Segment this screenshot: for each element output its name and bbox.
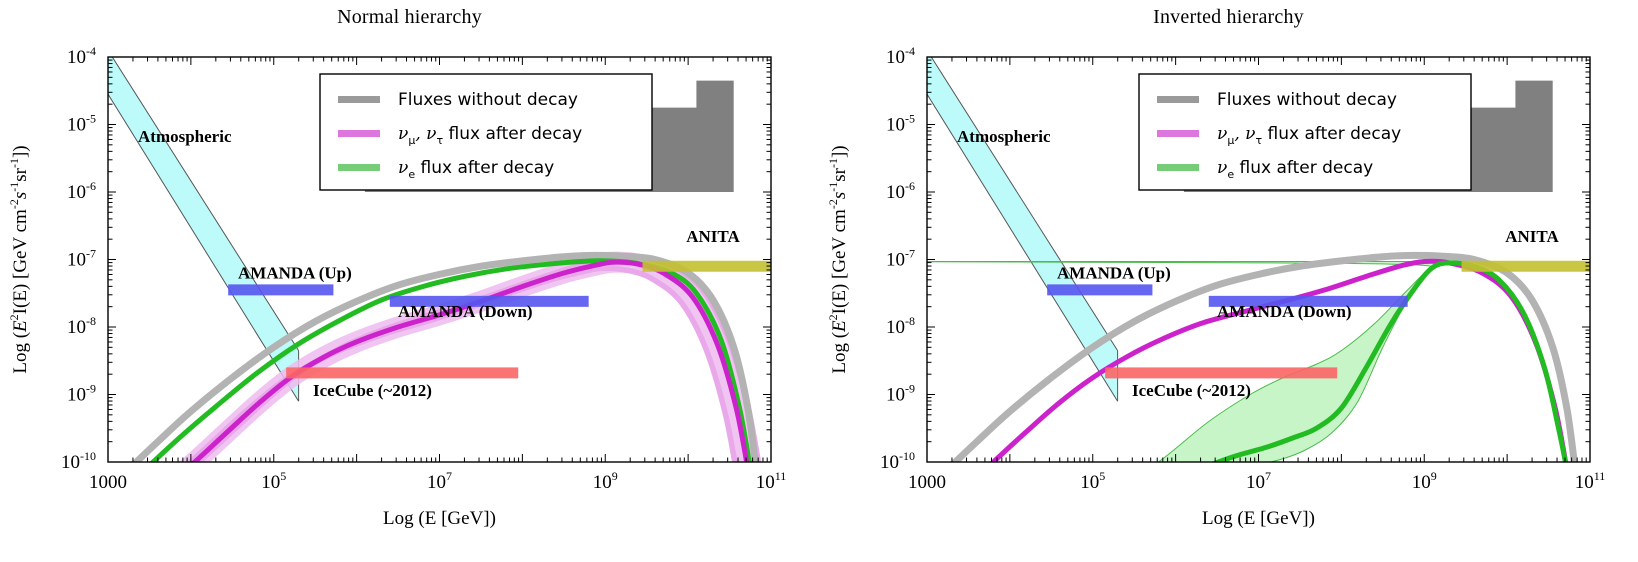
legend-label-0: Fluxes without decay xyxy=(398,90,578,110)
annotation-anita: ANITA xyxy=(1505,227,1559,246)
y-tick-label: 10-10 xyxy=(61,449,96,473)
annotation-amanda-up: AMANDA (Up) xyxy=(238,263,352,282)
legend-swatch-0 xyxy=(338,96,380,103)
annotation-atmospheric: Atmospheric xyxy=(138,127,232,146)
annotation-amanda-down: AMANDA (Down) xyxy=(1217,302,1352,321)
annotation-icecube: IceCube (~2012) xyxy=(313,381,432,400)
y-tick-label: 10-6 xyxy=(886,179,915,203)
annotation-atmospheric: Atmospheric xyxy=(957,127,1051,146)
legend: Fluxes without decayνμ, ντ flux after de… xyxy=(1139,74,1471,190)
x-axis-label: Log (E [GeV]) xyxy=(383,508,496,529)
x-tick-label: 107 xyxy=(427,469,452,493)
annotation-amanda-up: AMANDA (Up) xyxy=(1057,263,1171,282)
x-tick-label: 109 xyxy=(593,469,618,493)
legend-swatch-0 xyxy=(1157,96,1199,103)
y-tick-label: 10-8 xyxy=(886,314,915,338)
y-tick-label: 10-4 xyxy=(886,44,915,68)
bar-icecube-2012 xyxy=(1105,367,1337,378)
x-tick-label: 1011 xyxy=(1575,469,1606,493)
svg-text:Log (E2I(E) [GeV cm-2s-1sr-1]: Log (E2I(E) [GeV cm-2s-1sr-1]) xyxy=(826,145,850,373)
x-axis-label: Log (E [GeV]) xyxy=(1202,508,1315,529)
x-tick-label: 1000 xyxy=(89,472,127,493)
legend: Fluxes without decayνμ, ντ flux after de… xyxy=(320,74,652,190)
y-tick-label: 10-9 xyxy=(886,382,915,406)
y-tick-label: 10-8 xyxy=(67,314,96,338)
bar-anita xyxy=(1462,261,1590,272)
legend-label-0: Fluxes without decay xyxy=(1217,90,1397,110)
legend-swatch-1 xyxy=(338,130,380,137)
legend-label-2: νe flux after decay xyxy=(1217,158,1373,181)
x-tick-label: 1000 xyxy=(908,472,946,493)
x-tick-label: 105 xyxy=(1080,469,1105,493)
panel-normal-hierarchy: Normal hierarchy 1000105107109101110-410… xyxy=(0,0,819,562)
legend-label-1: νμ, ντ flux after decay xyxy=(398,124,582,147)
annotation-amanda-down: AMANDA (Down) xyxy=(398,302,533,321)
y-tick-label: 10-5 xyxy=(886,112,915,136)
legend-label-2: νe flux after decay xyxy=(398,158,554,181)
legend-swatch-1 xyxy=(1157,130,1199,137)
plot-svg-inverted: 1000105107109101110-410-510-610-710-810-… xyxy=(819,0,1638,562)
y-tick-label: 10-6 xyxy=(67,179,96,203)
svg-text:Log (E2I(E) [GeV cm-2s-1sr-1]: Log (E2I(E) [GeV cm-2s-1sr-1]) xyxy=(7,145,31,373)
plot-svg-normal: 1000105107109101110-410-510-610-710-810-… xyxy=(0,0,819,562)
y-tick-label: 10-4 xyxy=(67,44,96,68)
y-axis-label: Log (E2I(E) [GeV cm-2s-1sr-1]) xyxy=(7,145,31,373)
bar-amanda-up xyxy=(1047,284,1152,295)
legend-swatch-2 xyxy=(338,164,380,171)
bar-anita xyxy=(643,261,771,272)
x-tick-label: 105 xyxy=(261,469,286,493)
y-tick-label: 10-9 xyxy=(67,382,96,406)
panel-inverted-hierarchy: Inverted hierarchy 1000105107109101110-4… xyxy=(819,0,1638,562)
y-axis-label: Log (E2I(E) [GeV cm-2s-1sr-1]) xyxy=(826,145,850,373)
y-tick-label: 10-7 xyxy=(886,247,915,271)
bar-icecube-2012 xyxy=(286,367,518,378)
bar-amanda-up xyxy=(228,284,333,295)
annotation-icecube: IceCube (~2012) xyxy=(1132,381,1251,400)
legend-swatch-2 xyxy=(1157,164,1199,171)
legend-label-1: νμ, ντ flux after decay xyxy=(1217,124,1401,147)
x-tick-label: 109 xyxy=(1412,469,1437,493)
annotation-anita: ANITA xyxy=(686,227,740,246)
x-tick-label: 1011 xyxy=(756,469,787,493)
x-tick-label: 107 xyxy=(1246,469,1271,493)
y-tick-label: 10-5 xyxy=(67,112,96,136)
figure-root: Normal hierarchy 1000105107109101110-410… xyxy=(0,0,1638,562)
y-tick-label: 10-10 xyxy=(880,449,915,473)
y-tick-label: 10-7 xyxy=(67,247,96,271)
